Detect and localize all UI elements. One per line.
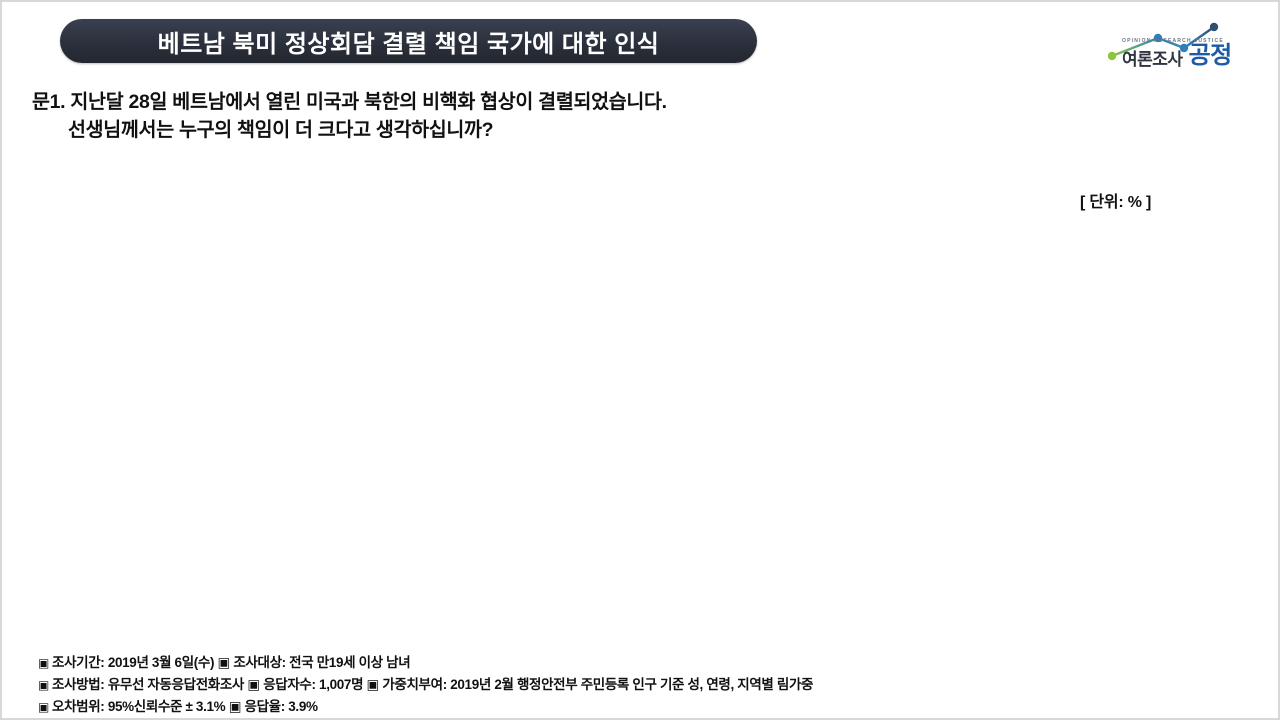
unit-label: [ 단위: % ] — [1080, 188, 1151, 212]
note-line-2: ▣조사방법: 유무선 자동응답전화조사 ▣ 응답자수: 1,007명 ▣ 가중치… — [38, 674, 813, 696]
note-line-2-text: 조사방법: 유무선 자동응답전화조사 ▣ 응답자수: 1,007명 ▣ 가중치부… — [52, 677, 813, 692]
question-line-1: 문1. 지난달 28일 베트남에서 열린 미국과 북한의 비핵화 협상이 결렬되… — [32, 91, 667, 113]
note-line-1-text: 조사기간: 2019년 3월 6일(수) ▣ 조사대상: 전국 만19세 이상 … — [52, 655, 410, 670]
note-marker-icon: ▣ — [38, 653, 49, 674]
note-line-1: ▣조사기간: 2019년 3월 6일(수) ▣ 조사대상: 전국 만19세 이상… — [38, 652, 813, 674]
slide-canvas: 베트남 북미 정상회담 결렬 책임 국가에 대한 인식 OPINION RESE… — [0, 0, 1280, 720]
survey-methodology-notes: ▣조사기간: 2019년 3월 6일(수) ▣ 조사대상: 전국 만19세 이상… — [38, 652, 813, 718]
slide-title-banner: 베트남 북미 정상회담 결렬 책임 국가에 대한 인식 — [60, 19, 757, 63]
company-logo: OPINION RESEARCH JUSTICE 여론조사 공정 — [1096, 10, 1264, 76]
logo-wordmark: 여론조사 공정 — [1096, 44, 1264, 68]
note-marker-icon: ▣ — [38, 697, 49, 718]
note-line-3: ▣오차범위: 95%신뢰수준 ± 3.1% ▣ 응답율: 3.9% — [38, 696, 813, 718]
note-marker-icon: ▣ — [38, 675, 49, 696]
logo-wordmark-small: 여론조사 — [1122, 51, 1183, 68]
question-line-2: 선생님께서는 누구의 책임이 더 크다고 생각하십니까? — [32, 116, 1032, 144]
logo-wordmark-big: 공정 — [1189, 44, 1232, 68]
question-text: 문1. 지난달 28일 베트남에서 열린 미국과 북한의 비핵화 협상이 결렬되… — [32, 88, 1032, 144]
page-title: 베트남 북미 정상회담 결렬 책임 국가에 대한 인식 — [158, 24, 660, 59]
note-line-3-text: 오차범위: 95%신뢰수준 ± 3.1% ▣ 응답율: 3.9% — [52, 699, 318, 714]
